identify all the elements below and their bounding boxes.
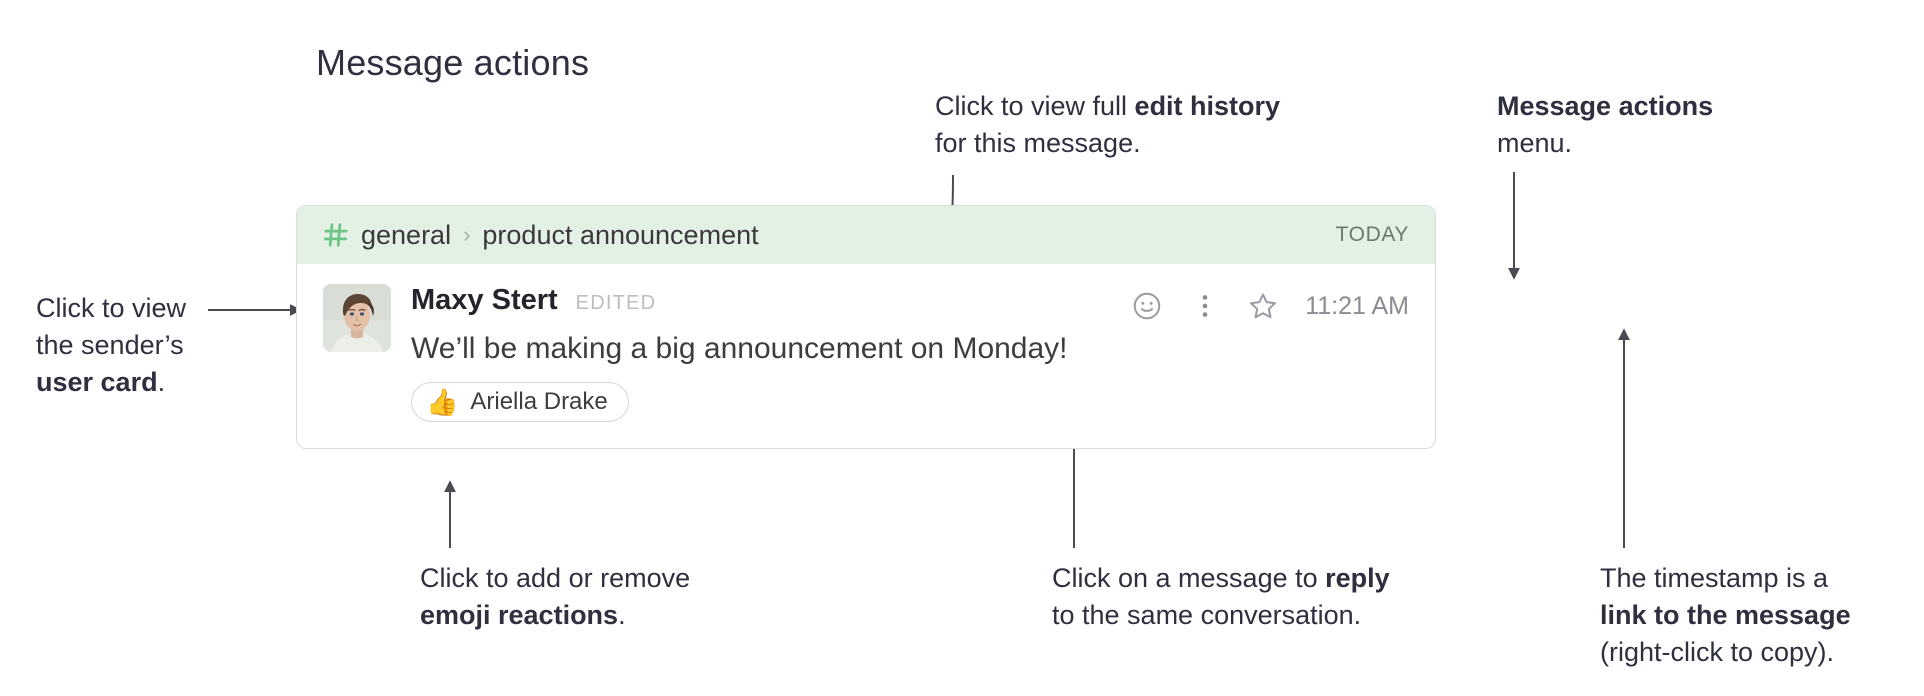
- breadcrumb-topic[interactable]: product announcement: [482, 220, 758, 251]
- annotation-user-card: Click to viewthe sender’suser card.: [36, 290, 186, 401]
- sender-name[interactable]: Maxy Stert: [411, 284, 558, 317]
- message-text[interactable]: We’ll be making a big announcement on Mo…: [411, 330, 1409, 368]
- message-actions: 11:21 AM: [1131, 290, 1409, 322]
- reaction-row: 👍 Ariella Drake: [411, 382, 1409, 422]
- breadcrumb-separator-icon: ›: [463, 224, 470, 246]
- annotation-edit-history: Click to view full edit historyfor this …: [935, 88, 1280, 162]
- message-row[interactable]: Maxy Stert EDITED We’ll be making a big …: [297, 264, 1435, 448]
- reaction-label: Ariella Drake: [470, 388, 607, 416]
- thumbs-up-emoji: 👍: [426, 389, 458, 415]
- reaction-pill[interactable]: 👍 Ariella Drake: [411, 382, 629, 422]
- message-timestamp[interactable]: 11:21 AM: [1305, 292, 1409, 321]
- message-card: general › product announcement TODAY: [296, 205, 1436, 449]
- annotation-reply: Click on a message to replyto the same c…: [1052, 560, 1390, 634]
- avatar[interactable]: [323, 284, 391, 352]
- hash-icon: [323, 222, 349, 248]
- annotation-emoji-reactions: Click to add or removeemoji reactions.: [420, 560, 690, 634]
- edited-label[interactable]: EDITED: [576, 292, 657, 315]
- star-message-icon[interactable]: [1247, 290, 1279, 322]
- today-badge: TODAY: [1336, 223, 1409, 247]
- breadcrumb-channel[interactable]: general: [361, 220, 451, 251]
- channel-breadcrumb-header: general › product announcement TODAY: [297, 206, 1435, 264]
- emoji-reaction-icon[interactable]: [1131, 290, 1163, 322]
- message-actions-menu-icon[interactable]: [1189, 290, 1221, 322]
- annotation-timestamp-link: The timestamp is alink to the message(ri…: [1600, 560, 1851, 671]
- annotation-message-actions-menu: Message actionsmenu.: [1497, 88, 1713, 162]
- page-title: Message actions: [316, 42, 589, 84]
